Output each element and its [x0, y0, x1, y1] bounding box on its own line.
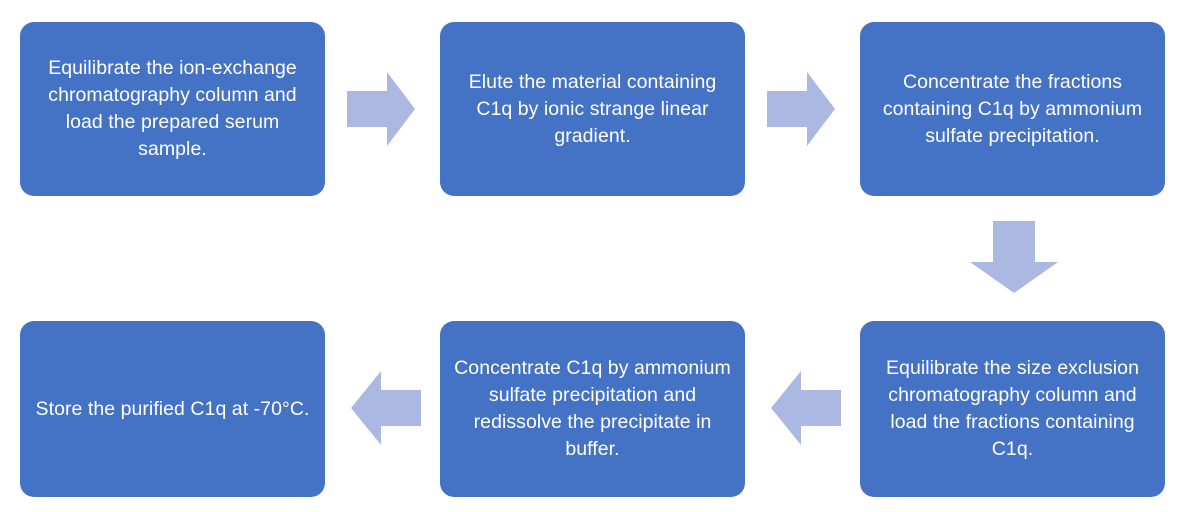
arrow-down-step3-to-step4 — [970, 221, 1058, 293]
flowchart-canvas: Equilibrate the ion-exchange chromatogra… — [0, 0, 1177, 512]
process-step-box-2[interactable]: Elute the material containing C1q by ion… — [440, 22, 745, 196]
process-step-box-4[interactable]: Equilibrate the size exclusion chromatog… — [860, 321, 1165, 497]
arrow-left-step4-to-step5 — [771, 371, 841, 445]
process-step-box-1[interactable]: Equilibrate the ion-exchange chromatogra… — [20, 22, 325, 196]
arrow-left-step5-to-step6 — [351, 371, 421, 445]
process-step-label-1: Equilibrate the ion-exchange chromatogra… — [34, 55, 311, 163]
process-step-label-2: Elute the material containing C1q by ion… — [454, 69, 731, 150]
process-step-label-5: Concentrate C1q by ammonium sulfate prec… — [454, 355, 731, 463]
process-step-label-4: Equilibrate the size exclusion chromatog… — [874, 355, 1151, 463]
arrow-right-step2-to-step3 — [767, 72, 835, 146]
process-step-box-5[interactable]: Concentrate C1q by ammonium sulfate prec… — [440, 321, 745, 497]
process-step-box-3[interactable]: Concentrate the fractions containing C1q… — [860, 22, 1165, 196]
process-step-label-6: Store the purified C1q at -70°C. — [36, 396, 310, 423]
arrow-right-step1-to-step2 — [347, 72, 415, 146]
process-step-label-3: Concentrate the fractions containing C1q… — [874, 69, 1151, 150]
process-step-box-6[interactable]: Store the purified C1q at -70°C. — [20, 321, 325, 497]
